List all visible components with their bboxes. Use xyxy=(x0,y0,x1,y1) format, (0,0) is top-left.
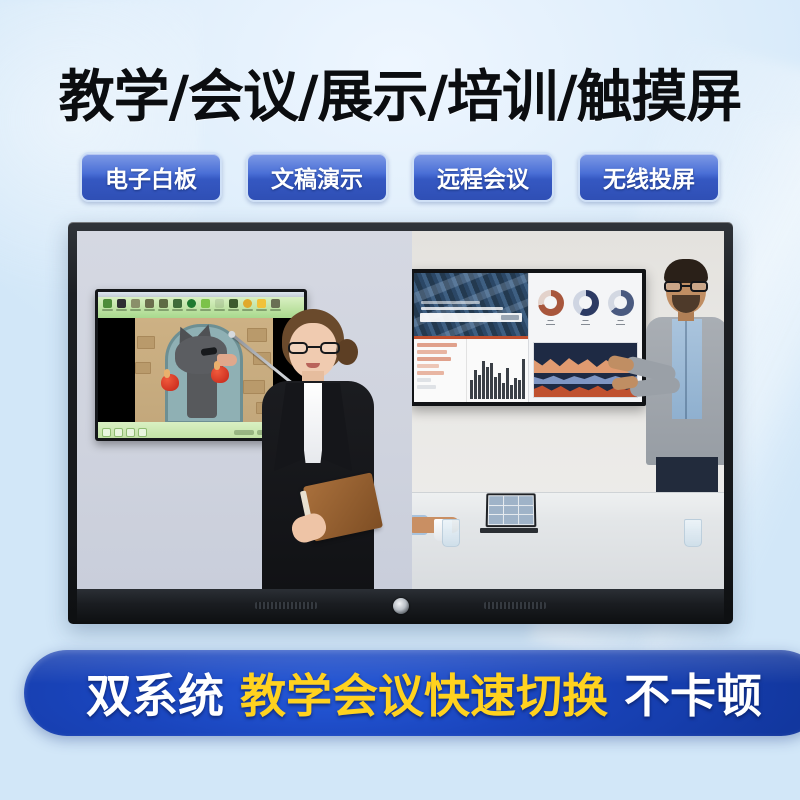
feature-badge-label: 文稿演示 xyxy=(271,160,363,194)
page-thumb-icon[interactable] xyxy=(126,428,135,437)
vertical-bar-chart xyxy=(466,339,528,402)
wolf-snout xyxy=(217,354,237,366)
donut-chart-icon xyxy=(608,290,634,316)
bottom-slogan-banner: 双系统 教学会议快速切换 不卡顿 xyxy=(24,650,800,736)
presenter-figure xyxy=(644,257,724,507)
glasses-icon xyxy=(288,342,340,354)
wall-mounted-display: ▬▬▬▬▬ ▬▬▬▬▬ ▬▬▬▬▬ xyxy=(412,269,646,406)
poster-canvas: 教学/会议/展示/培训/触摸屏 电子白板 文稿演示 远程会议 无线投屏 xyxy=(0,0,800,800)
interactive-flat-panel-display: ▬▬▬▬▬ ▬▬▬▬▬ ▬▬▬▬▬ xyxy=(68,222,733,624)
laptop xyxy=(480,493,538,533)
scene-conference-presentation: ▬▬▬▬▬ ▬▬▬▬▬ ▬▬▬▬▬ xyxy=(412,231,724,589)
water-glass xyxy=(684,519,702,547)
library-tool-icon[interactable] xyxy=(199,299,212,316)
kpi-donut-group: ▬▬▬▬▬ ▬▬▬▬▬ ▬▬▬▬▬ xyxy=(533,277,638,340)
presenter-hair xyxy=(664,259,708,283)
search-input[interactable] xyxy=(420,313,522,322)
conference-table xyxy=(412,492,724,589)
dashboard-screen: ▬▬▬▬▬ ▬▬▬▬▬ ▬▬▬▬▬ xyxy=(414,273,642,402)
speaker-grille-left xyxy=(255,602,317,609)
hero-image-panel xyxy=(414,273,528,336)
feature-badge-label: 电子白板 xyxy=(105,160,197,194)
slogan-no-lag: 不卡顿 xyxy=(624,660,762,726)
feature-badge-label: 无线投屏 xyxy=(603,160,695,194)
feature-badge-list: 电子白板 文稿演示 远程会议 无线投屏 xyxy=(0,152,800,202)
donut-chart-icon xyxy=(573,290,599,316)
slogan-dual-system: 双系统 xyxy=(86,660,224,726)
pen-tool-icon[interactable] xyxy=(101,299,114,316)
brush-tool-icon[interactable] xyxy=(115,299,128,316)
spacer-icon xyxy=(213,299,226,316)
slogan-fast-switch: 教学会议快速切换 xyxy=(240,660,608,726)
teacher-figure xyxy=(252,309,384,589)
glasses-icon xyxy=(664,281,708,292)
display-screen: ▬▬▬▬▬ ▬▬▬▬▬ ▬▬▬▬▬ xyxy=(77,231,724,589)
display-bottom-bezel xyxy=(77,589,724,622)
media-tool-icon[interactable] xyxy=(227,299,240,316)
presenter-shirt xyxy=(672,319,702,419)
page-title: 教学/会议/展示/培训/触摸屏 xyxy=(0,52,800,133)
select-tool-icon[interactable] xyxy=(171,299,184,316)
page-thumb-icon[interactable] xyxy=(114,428,123,437)
power-button[interactable] xyxy=(393,598,409,614)
report-panel xyxy=(414,336,528,402)
scene-classroom-teaching xyxy=(77,231,412,589)
speaker-grille-right xyxy=(484,602,546,609)
shape-tool-icon[interactable] xyxy=(129,299,142,316)
boxing-glove-icon xyxy=(211,366,229,383)
feature-badge-remote-meeting[interactable]: 远程会议 xyxy=(412,152,554,202)
donut-chart-icon xyxy=(538,290,564,316)
eraser-tool-icon[interactable] xyxy=(157,299,170,316)
feature-badge-label: 远程会议 xyxy=(437,160,529,194)
boxing-glove-icon xyxy=(161,374,179,391)
feature-badge-wireless-casting[interactable]: 无线投屏 xyxy=(578,152,720,202)
feature-badge-document-presentation[interactable]: 文稿演示 xyxy=(246,152,388,202)
page-thumb-icon[interactable] xyxy=(102,428,111,437)
horizontal-bar-list xyxy=(414,339,466,402)
rotate-tool-icon[interactable] xyxy=(185,299,198,316)
status-button[interactable] xyxy=(234,430,254,435)
text-tool-icon[interactable] xyxy=(143,299,156,316)
page-thumb-icon[interactable] xyxy=(138,428,147,437)
water-glass xyxy=(442,519,460,547)
feature-badge-whiteboard[interactable]: 电子白板 xyxy=(80,152,222,202)
